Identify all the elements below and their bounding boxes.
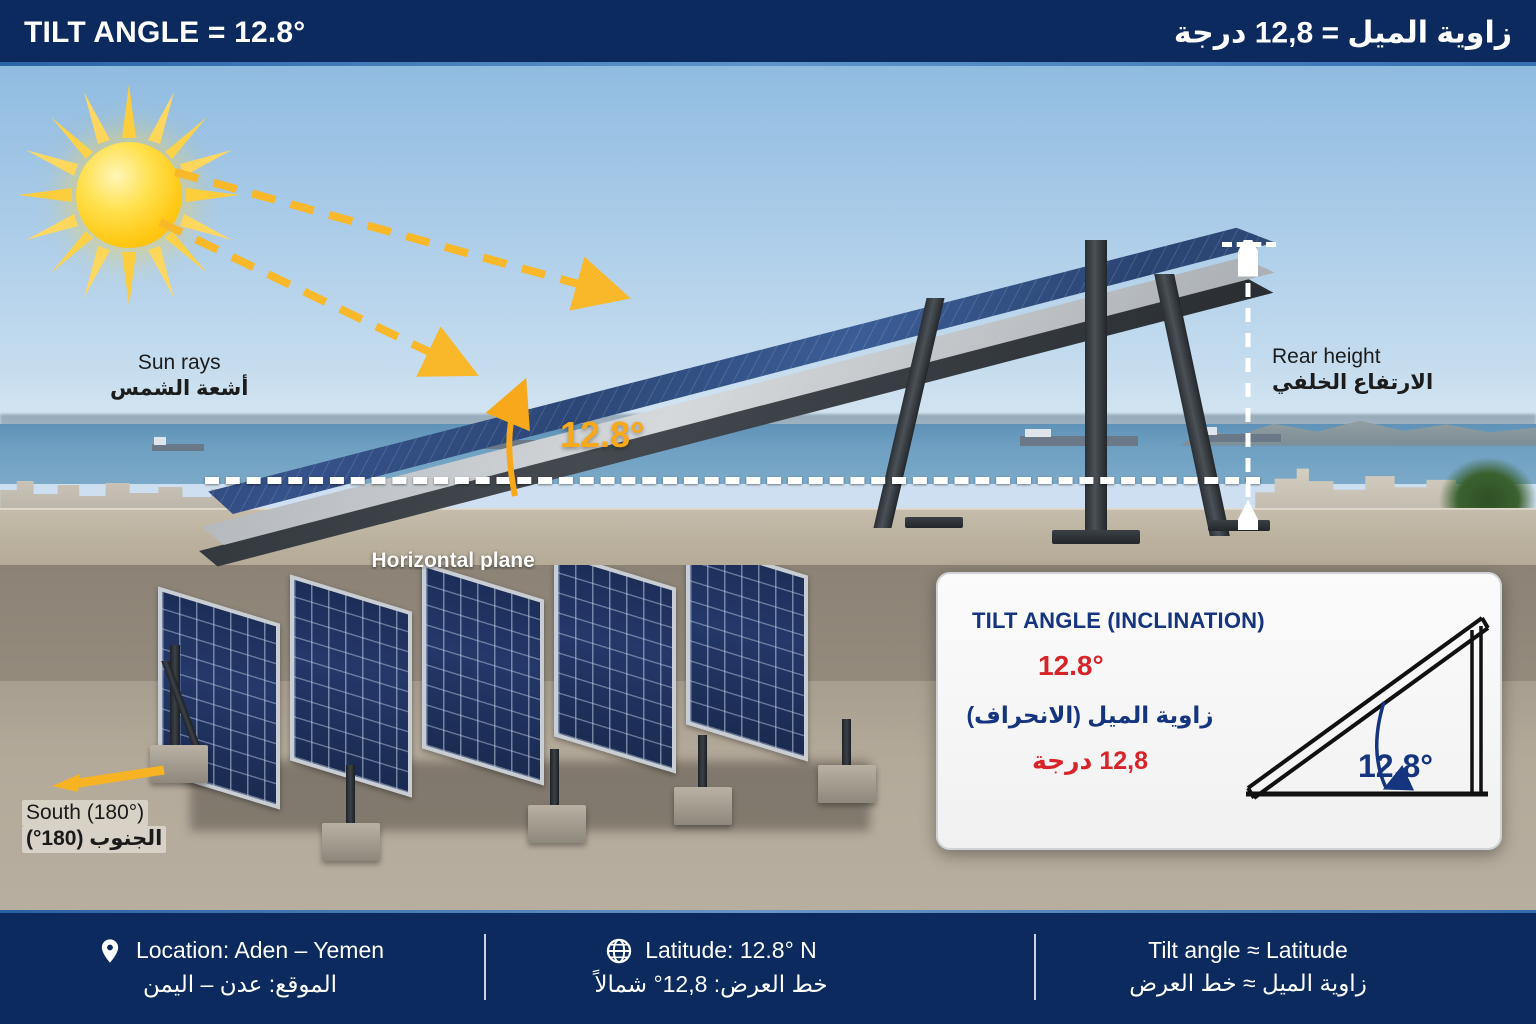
card-value-ar: 12,8 درجة xyxy=(950,746,1230,776)
footer-location-ar: الموقع: عدن – اليمن xyxy=(143,971,337,998)
concrete-footing xyxy=(322,823,380,861)
concrete-footing xyxy=(818,765,876,803)
array-panel xyxy=(554,565,676,774)
sun-ray-beams xyxy=(0,62,1536,570)
card-title-ar: زاوية الميل (الانحراف) xyxy=(950,702,1230,729)
label-south-ar: الجنوب (180°) xyxy=(22,826,166,852)
footer-divider xyxy=(1034,934,1036,1000)
footer-location-en: Location: Aden – Yemen xyxy=(136,937,384,964)
horizontal-plane-line xyxy=(205,477,1260,484)
label-sun-rays-en: Sun rays xyxy=(110,350,249,376)
footer-cell-location: Location: Aden – Yemen الموقع: عدن – الي… xyxy=(0,910,480,1024)
footer-location-en-row: Location: Aden – Yemen xyxy=(96,937,384,965)
array-panel xyxy=(422,565,544,786)
footer-cell-latitude: Latitude: 12.8° N خط العرض: 12,8° شمالاً xyxy=(486,910,936,1024)
card-value-en: 12.8° xyxy=(1038,650,1104,682)
upper-scene: 12.8° Sun rays أشعة الشمس Horizontal pla… xyxy=(0,62,1536,570)
card-diagram-value: 12.8° xyxy=(1358,748,1433,785)
card-tilt-diagram xyxy=(1238,602,1490,828)
globe-icon xyxy=(605,937,633,965)
footer-latitude-en: Latitude: 12.8° N xyxy=(645,937,817,964)
location-pin-icon xyxy=(96,937,124,965)
label-sun-rays-ar: أشعة الشمس xyxy=(110,376,249,402)
south-direction-arrow xyxy=(50,762,170,796)
footer-rule-en: Tilt angle ≈ Latitude xyxy=(1148,937,1348,964)
header-title-en: TILT ANGLE = 12.8° xyxy=(24,16,305,50)
footer-bar: Location: Aden – Yemen الموقع: عدن – الي… xyxy=(0,910,1536,1024)
label-horizontal-plane: Horizontal plane المستوى الأفقي xyxy=(368,548,538,570)
header-bar: TILT ANGLE = 12.8° زاوية الميل = 12,8 در… xyxy=(0,0,1536,66)
tilt-angle-card: TILT ANGLE (INCLINATION) 12.8° زاوية الم… xyxy=(936,572,1502,850)
header-title-ar: زاوية الميل = 12,8 درجة xyxy=(1174,16,1512,51)
footer-divider xyxy=(484,934,486,1000)
infographic-root: TILT ANGLE = 12.8° زاوية الميل = 12,8 در… xyxy=(0,0,1536,1024)
solar-panel-array xyxy=(150,583,910,843)
rear-height-dimension xyxy=(1238,240,1258,530)
footer-rule-ar: زاوية الميل ≈ خط العرض xyxy=(1129,970,1367,997)
label-south: South (180°) الجنوب (180°) xyxy=(22,800,166,853)
footer-rule-en-row: Tilt angle ≈ Latitude xyxy=(1148,937,1348,964)
concrete-footing xyxy=(528,805,586,843)
label-horizontal-plane-en: Horizontal plane xyxy=(368,548,538,570)
label-south-en: South (180°) xyxy=(22,800,166,826)
footer-latitude-ar: خط العرض: 12,8° شمالاً xyxy=(594,971,827,998)
label-rear-height-ar: الارتفاع الخلفي xyxy=(1272,370,1433,396)
label-sun-rays: Sun rays أشعة الشمس xyxy=(110,350,249,403)
card-title-en: TILT ANGLE (INCLINATION) xyxy=(972,608,1265,634)
footer-cell-rule: Tilt angle ≈ Latitude زاوية الميل ≈ خط ا… xyxy=(960,910,1536,1024)
concrete-footing xyxy=(674,787,732,825)
footer-latitude-en-row: Latitude: 12.8° N xyxy=(605,937,817,965)
tilt-angle-value: 12.8° xyxy=(560,414,644,456)
label-rear-height: Rear height الارتفاع الخلفي xyxy=(1272,344,1433,397)
label-rear-height-en: Rear height xyxy=(1272,344,1433,370)
array-panel xyxy=(686,565,808,762)
